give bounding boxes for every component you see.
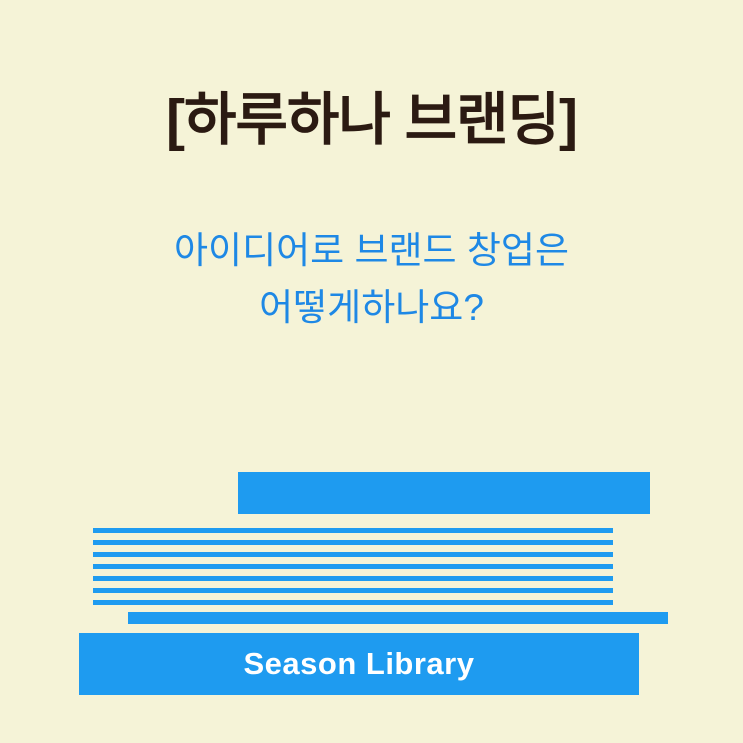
book-stack-stripe [93, 600, 613, 605]
book-stack-stripes [93, 528, 613, 605]
book-stack-graphic: Season Library [0, 455, 743, 743]
book-stack-stripe [93, 528, 613, 533]
poster-card: [하루하나 브랜딩] 아이디어로 브랜드 창업은 어떻게하나요? Season … [0, 0, 743, 743]
page-subtitle: 아이디어로 브랜드 창업은 어떻게하나요? [0, 222, 743, 337]
subtitle-line-2: 어떻게하나요? [0, 279, 743, 336]
book-stack-stripe [93, 564, 613, 569]
book-stack-stripe [93, 552, 613, 557]
subtitle-line-1: 아이디어로 브랜드 창업은 [0, 222, 743, 279]
book-stack-top-bar [238, 472, 650, 514]
page-title: [하루하나 브랜딩] [0, 88, 743, 154]
book-stack-thin-bar [128, 612, 668, 624]
brand-label: Season Library [79, 633, 639, 695]
book-stack-stripe [93, 540, 613, 545]
book-stack-stripe [93, 588, 613, 593]
book-stack-stripe [93, 576, 613, 581]
